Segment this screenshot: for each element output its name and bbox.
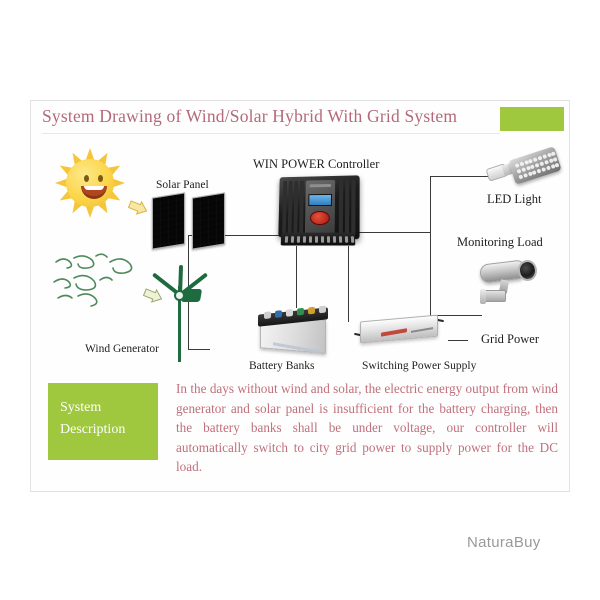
controller-terminal-pin xyxy=(309,236,312,243)
led-diode xyxy=(544,160,549,165)
switching-power-supply-label: Switching Power Supply xyxy=(362,360,476,372)
grid-power-label: Grid Power xyxy=(481,332,539,347)
led-diode xyxy=(546,166,551,171)
battery-terminal-cap xyxy=(286,309,293,317)
wire-controller-to-psu xyxy=(348,246,349,322)
led-diode xyxy=(551,151,556,156)
controller-terminal-pin xyxy=(297,236,300,243)
cctv-camera-icon xyxy=(478,258,540,314)
wind-generator-label: Wind Generator xyxy=(85,343,159,355)
wire-load-bus xyxy=(430,176,431,316)
battery-bank-icon xyxy=(256,307,332,353)
system-description-badge: System Description xyxy=(48,383,158,460)
system-description-heading-line2: Description xyxy=(60,419,156,441)
led-diode xyxy=(553,157,558,162)
battery-banks-label: Battery Banks xyxy=(249,360,314,372)
controller-indicator-dial xyxy=(310,211,330,225)
battery-terminal-cap xyxy=(308,307,315,315)
battery-terminal-cap xyxy=(275,310,282,318)
controller-terminal-pin xyxy=(339,236,342,243)
page-title: System Drawing of Wind/Solar Hybrid With… xyxy=(42,106,457,127)
controller-label: WIN POWER Controller xyxy=(253,157,379,172)
led-diode xyxy=(555,163,560,168)
title-divider xyxy=(42,133,500,134)
controller-lcd-display xyxy=(308,194,332,206)
wind-generator-icon xyxy=(152,262,208,362)
controller-terminal-pin xyxy=(315,236,318,243)
solar-panel-label: Solar Panel xyxy=(156,179,209,191)
led-light-label: LED Light xyxy=(487,192,542,207)
sun-icon xyxy=(55,148,125,218)
led-diode xyxy=(542,154,547,159)
wind-gust-icon xyxy=(48,252,158,322)
controller-terminal-pin xyxy=(351,236,354,243)
win-power-controller-icon xyxy=(277,176,359,248)
monitoring-load-label: Monitoring Load xyxy=(457,235,543,250)
controller-terminal-pin xyxy=(321,236,324,243)
wire-controller-to-battery xyxy=(296,246,297,308)
controller-terminal-pin xyxy=(291,236,294,243)
sun-eye-left xyxy=(84,175,89,182)
naturabuy-watermark: NaturaBuy xyxy=(467,534,541,551)
switching-power-supply-icon xyxy=(354,314,444,346)
sun-eye-right xyxy=(98,175,103,182)
led-diode xyxy=(521,167,526,172)
led-light-icon xyxy=(487,152,561,190)
battery-terminal-cap xyxy=(264,311,271,319)
wire-branch-led xyxy=(430,176,488,177)
solar-flow-arrow-icon xyxy=(128,200,148,216)
wire-grid-power-stub xyxy=(448,340,468,341)
system-description-heading-line1: System xyxy=(60,397,156,419)
led-diode xyxy=(519,162,524,167)
title-accent-block xyxy=(500,107,564,131)
solar-panel-icon xyxy=(152,195,232,251)
diagram-canvas: System Drawing of Wind/Solar Hybrid With… xyxy=(0,0,600,600)
controller-terminal-pin xyxy=(285,236,288,243)
battery-terminal-cap xyxy=(319,306,326,314)
sun-mouth xyxy=(81,186,107,199)
battery-terminal-cap xyxy=(297,308,304,316)
led-diode xyxy=(523,173,528,178)
wire-controller-to-load-bus xyxy=(359,232,431,233)
controller-terminal-pin xyxy=(345,236,348,243)
controller-terminal-pin xyxy=(333,236,336,243)
system-description-body: In the days without wind and solar, the … xyxy=(176,379,558,477)
controller-terminal-pin xyxy=(303,236,306,243)
controller-terminal-pin xyxy=(327,236,330,243)
